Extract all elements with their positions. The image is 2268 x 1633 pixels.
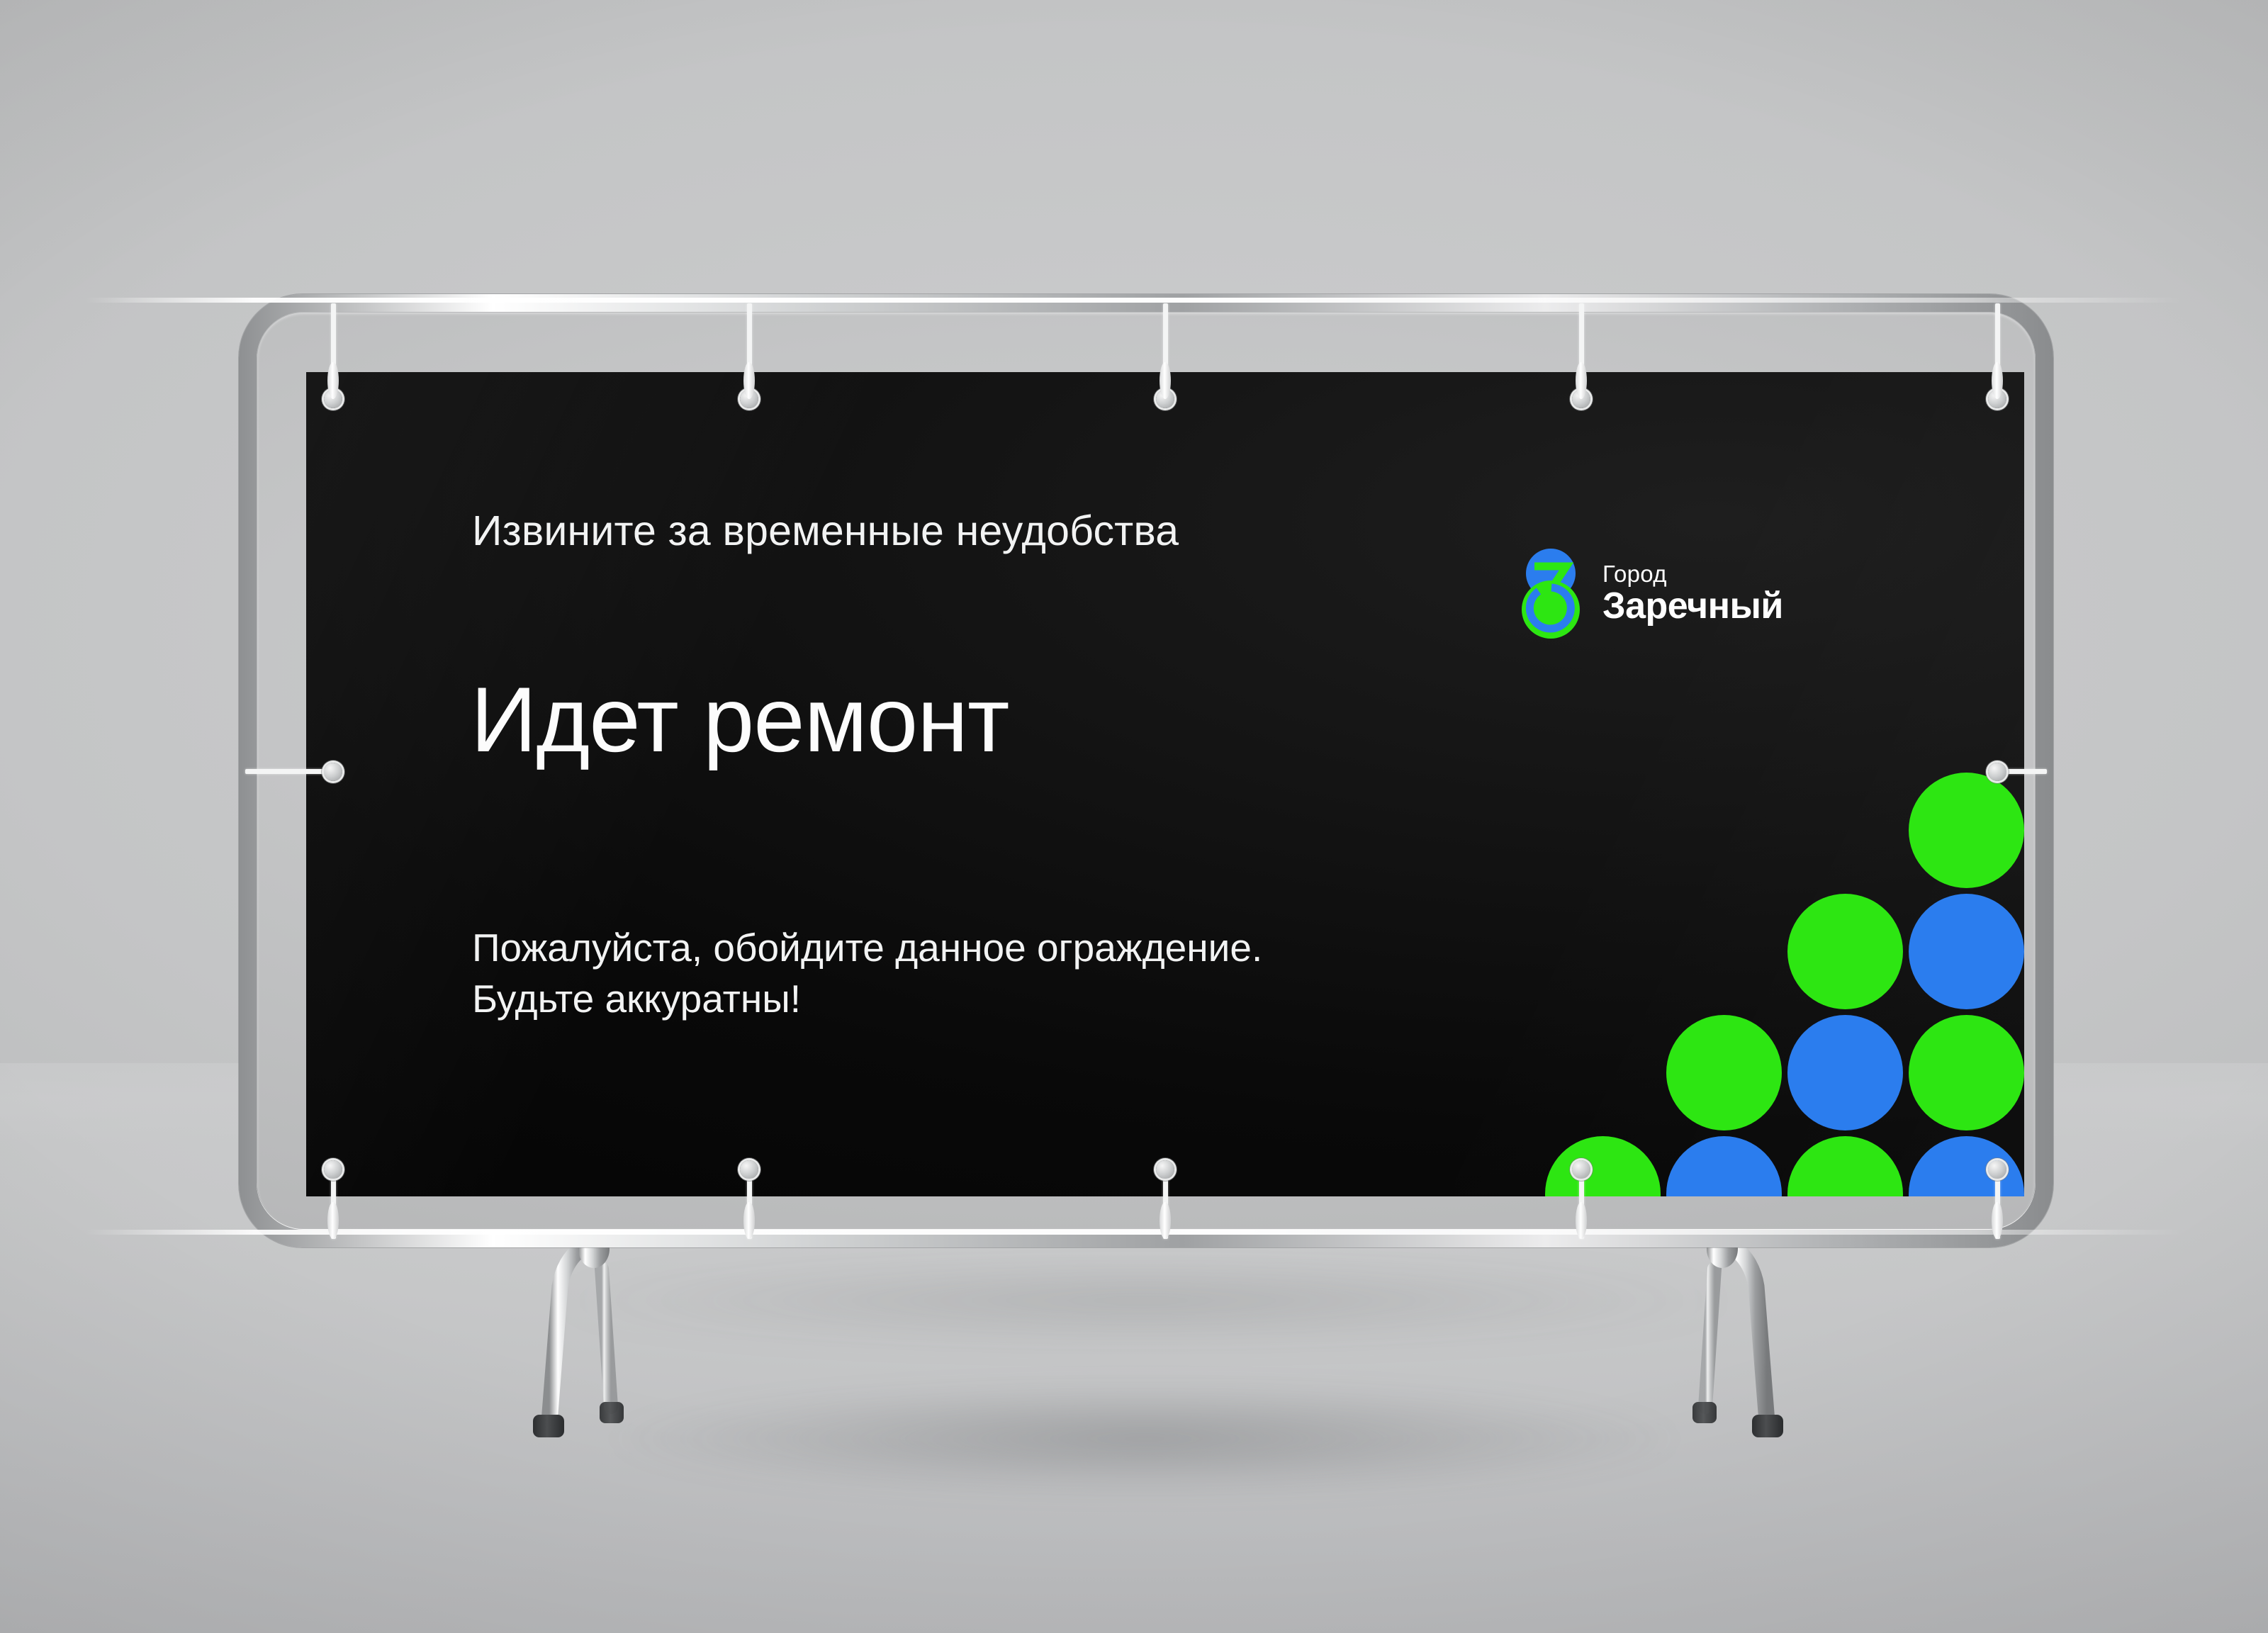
grommet-bottom-3	[1572, 1160, 1590, 1179]
grommet-bottom-0	[324, 1160, 342, 1179]
city-logo-lockup: Город Заречный	[1515, 547, 1783, 639]
banner-headline: Идет ремонт	[471, 666, 1009, 773]
cable-tie-knot	[1576, 362, 1587, 399]
printed-banner: Извините за временные неудобства Идет ре…	[306, 372, 2024, 1196]
banner-body-line-1: Пожалуйста, обойдите данное ограждение.	[472, 923, 1262, 974]
cable-tie-knot	[327, 362, 339, 399]
pattern-dot-green	[1666, 1015, 1782, 1130]
pattern-dot-blue	[1787, 1015, 1903, 1130]
grommet-bottom-4	[1988, 1160, 2006, 1179]
pattern-dot-green	[1545, 1136, 1661, 1196]
grommet-right-mid	[1988, 763, 2006, 781]
banner-kicker: Извините за временные неудобства	[472, 507, 1179, 555]
cable-tie-knot	[1160, 1202, 1171, 1239]
frame-top-gloss	[85, 298, 2183, 303]
pattern-dot-blue	[1666, 1136, 1782, 1196]
cable-tie-knot	[743, 1202, 755, 1239]
stand-leg-left-back	[600, 1269, 624, 1423]
cable-tie-knot	[1160, 362, 1171, 399]
dot-pattern	[1457, 736, 2024, 1196]
cable-tie-knot	[1992, 1202, 2003, 1239]
stand-leg-left-front	[533, 1230, 610, 1437]
pattern-dot-green	[1909, 773, 2024, 888]
pattern-dot-blue	[1909, 894, 2024, 1009]
cable-tie-left-mid	[245, 769, 333, 774]
pattern-dot-blue	[1909, 1136, 2024, 1196]
banner-body: Пожалуйста, обойдите данное ограждение. …	[472, 923, 1262, 1024]
stand-leg-right-back	[1692, 1269, 1717, 1423]
pattern-dot-green	[1787, 894, 1903, 1009]
cable-tie-knot	[1576, 1202, 1587, 1239]
cable-tie-knot	[327, 1202, 339, 1239]
banner-body-line-2: Будьте аккуратны!	[472, 974, 1262, 1025]
zarechny-logo-icon	[1515, 547, 1587, 639]
frame-bottom-gloss	[85, 1230, 2183, 1235]
cable-tie-knot	[743, 362, 755, 399]
grommet-left-mid	[324, 763, 342, 781]
cable-tie-knot	[1992, 362, 2003, 399]
grommet-bottom-2	[1156, 1160, 1174, 1179]
logo-wordmark: Город Заречный	[1602, 562, 1783, 624]
grommet-bottom-1	[740, 1160, 758, 1179]
banner-mockup-scene: Извините за временные неудобства Идет ре…	[0, 0, 2268, 1633]
pattern-dot-green	[1787, 1136, 1903, 1196]
stand-leg-right-front	[1707, 1230, 1783, 1437]
logo-line-2: Заречный	[1602, 588, 1783, 624]
logo-line-1: Город	[1602, 562, 1783, 585]
pattern-dot-green	[1909, 1015, 2024, 1130]
